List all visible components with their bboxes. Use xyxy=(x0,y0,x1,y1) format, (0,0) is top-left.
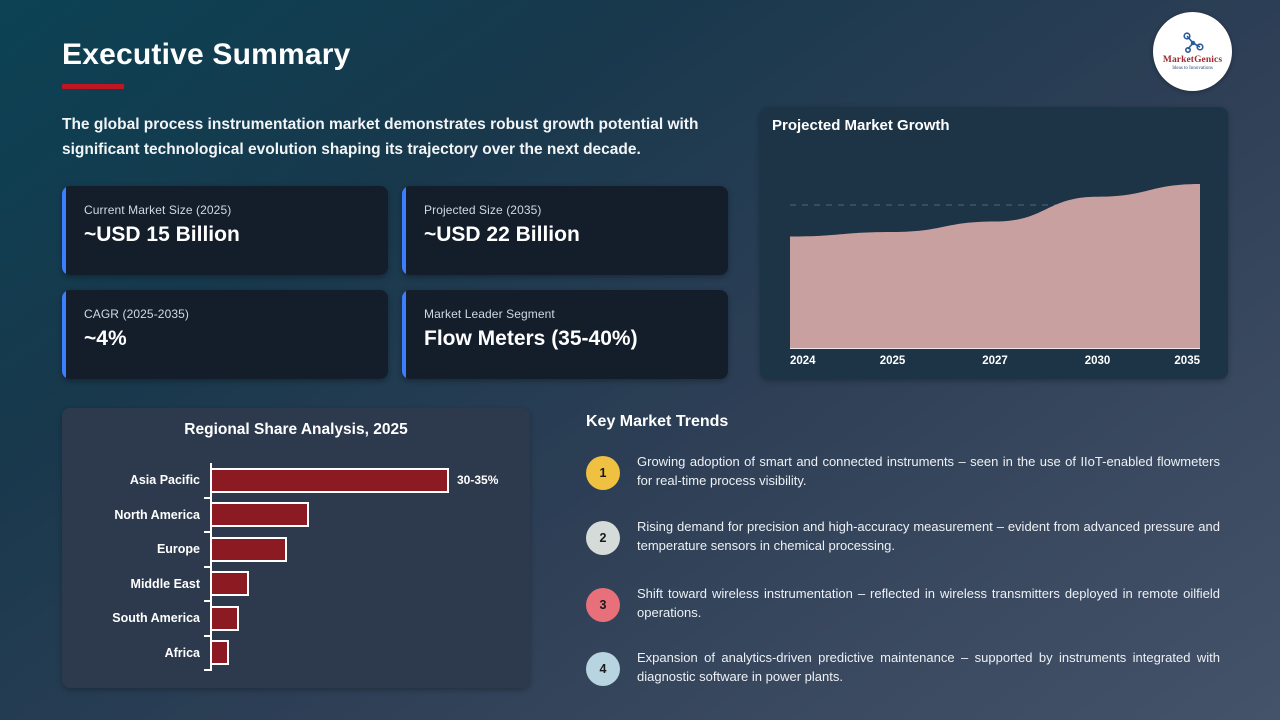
trend-number-badge: 4 xyxy=(586,652,620,686)
regional-bar-row: Africa xyxy=(62,636,530,671)
regional-axis-tick xyxy=(204,497,212,499)
kpi-value: ~USD 22 Billion xyxy=(424,223,580,247)
growth-x-tick-label: 2027 xyxy=(982,355,1008,367)
regional-bar-list: Asia Pacific30-35%North AmericaEuropeMid… xyxy=(62,463,530,670)
growth-x-axis-labels: 20242025202720302035 xyxy=(790,355,1200,371)
regional-bar-fill xyxy=(210,606,239,631)
regional-bar-label: South America xyxy=(62,611,210,625)
regional-bar-fill xyxy=(210,468,449,493)
regional-axis-tick xyxy=(204,635,212,637)
trend-text: Expansion of analytics-driven predictive… xyxy=(637,648,1220,686)
company-logo: MarketGenics Ideas to Innovations xyxy=(1153,12,1232,91)
regional-bar-row: Europe xyxy=(62,532,530,567)
regional-axis-tick xyxy=(204,669,212,671)
logo-tagline: Ideas to Innovations xyxy=(1172,66,1213,71)
trends-section-title: Key Market Trends xyxy=(586,413,728,431)
regional-bar-value-label: 30-35% xyxy=(457,473,498,487)
regional-bar-label: North America xyxy=(62,508,210,522)
kpi-label: Projected Size (2035) xyxy=(424,203,542,217)
regional-bar-track xyxy=(210,567,530,602)
regional-axis-tick xyxy=(204,566,212,568)
growth-x-tick-label: 2035 xyxy=(1174,355,1200,367)
trend-item: 2 Rising demand for precision and high-a… xyxy=(586,517,1220,555)
regional-bar-fill xyxy=(210,502,309,527)
kpi-card-current-market-size: Current Market Size (2025) ~USD 15 Billi… xyxy=(62,186,388,275)
trend-text: Shift toward wireless instrumentation – … xyxy=(637,584,1220,622)
regional-share-panel: Regional Share Analysis, 2025 Asia Pacif… xyxy=(62,408,530,688)
title-accent-rule xyxy=(62,84,124,89)
regional-bar-fill xyxy=(210,571,249,596)
regional-bar-row: North America xyxy=(62,498,530,533)
kpi-card-projected-size: Projected Size (2035) ~USD 22 Billion xyxy=(402,186,728,275)
kpi-value: Flow Meters (35-40%) xyxy=(424,327,638,351)
trend-item: 3 Shift toward wireless instrumentation … xyxy=(586,584,1220,622)
regional-axis-tick xyxy=(204,531,212,533)
regional-bar-label: Asia Pacific xyxy=(62,473,210,487)
growth-chart-title: Projected Market Growth xyxy=(772,117,950,134)
regional-bar-track xyxy=(210,601,530,636)
regional-bar-track xyxy=(210,498,530,533)
regional-bar-track: 30-35% xyxy=(210,463,530,498)
growth-x-tick-label: 2030 xyxy=(1085,355,1111,367)
trend-number-badge: 1 xyxy=(586,456,620,490)
kpi-label: CAGR (2025-2035) xyxy=(84,307,189,321)
regional-bar-label: Africa xyxy=(62,646,210,660)
regional-bar-row: Middle East xyxy=(62,567,530,602)
regional-bar-fill xyxy=(210,640,229,665)
kpi-label: Market Leader Segment xyxy=(424,307,555,321)
kpi-card-market-leader-segment: Market Leader Segment Flow Meters (35-40… xyxy=(402,290,728,379)
kpi-label: Current Market Size (2025) xyxy=(84,203,231,217)
growth-x-tick-label: 2024 xyxy=(790,355,816,367)
regional-bar-track xyxy=(210,636,530,671)
projected-market-growth-panel: Projected Market Growth 2024202520272030… xyxy=(760,107,1228,379)
regional-bar-label: Europe xyxy=(62,542,210,556)
kpi-value: ~USD 15 Billion xyxy=(84,223,240,247)
kpi-value: ~4% xyxy=(84,327,127,351)
page-title: Executive Summary xyxy=(62,38,351,72)
regional-bar-track xyxy=(210,532,530,567)
regional-chart-title: Regional Share Analysis, 2025 xyxy=(62,421,530,439)
regional-bar-row: South America xyxy=(62,601,530,636)
trend-item: 1 Growing adoption of smart and connecte… xyxy=(586,452,1220,490)
growth-x-tick-label: 2025 xyxy=(880,355,906,367)
network-nodes-icon xyxy=(1180,32,1206,55)
intro-paragraph: The global process instrumentation marke… xyxy=(62,112,742,162)
trend-item: 4 Expansion of analytics-driven predicti… xyxy=(586,648,1220,686)
growth-area-chart xyxy=(790,169,1200,349)
logo-company-name: MarketGenics xyxy=(1163,55,1222,65)
trend-number-badge: 3 xyxy=(586,588,620,622)
kpi-card-cagr: CAGR (2025-2035) ~4% xyxy=(62,290,388,379)
regional-axis-tick xyxy=(204,600,212,602)
trend-text: Rising demand for precision and high-acc… xyxy=(637,517,1220,555)
regional-bar-label: Middle East xyxy=(62,577,210,591)
regional-bar-fill xyxy=(210,537,287,562)
regional-bar-row: Asia Pacific30-35% xyxy=(62,463,530,498)
trend-number-badge: 2 xyxy=(586,521,620,555)
trend-text: Growing adoption of smart and connected … xyxy=(637,452,1220,490)
